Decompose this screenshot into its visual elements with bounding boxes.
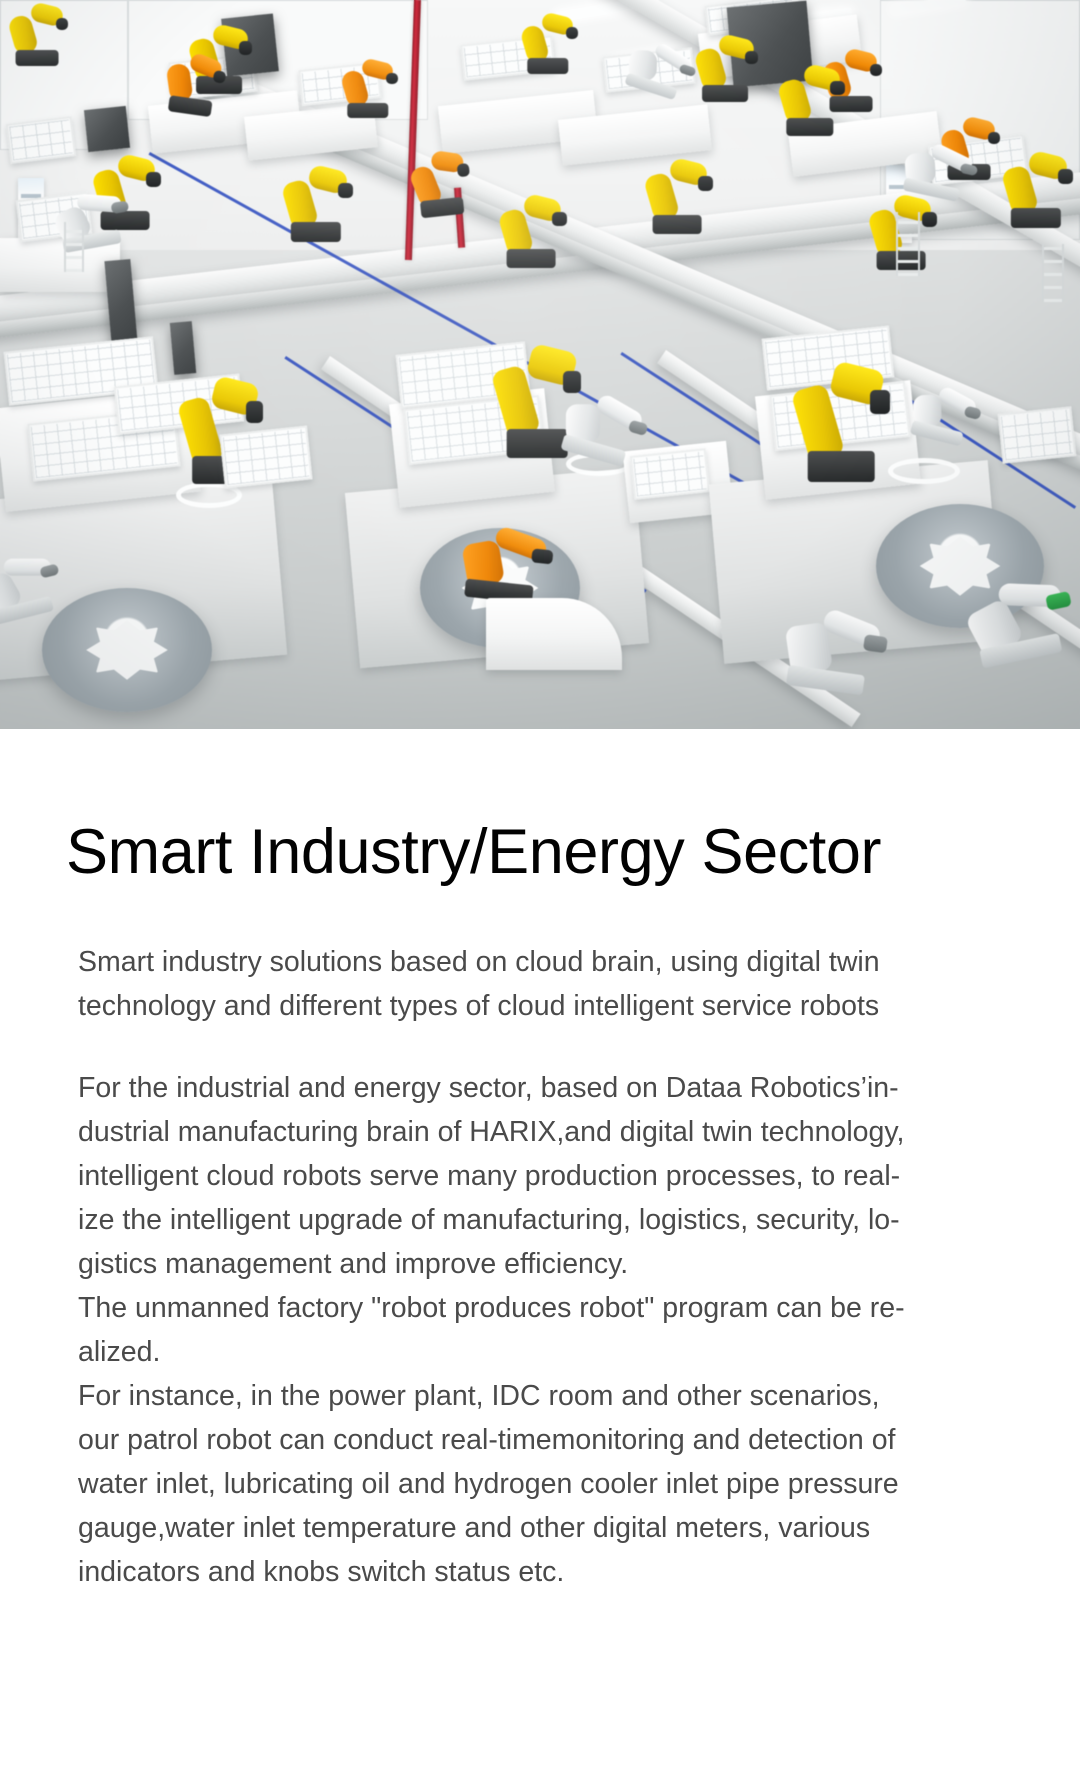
yellow-robot-arm xyxy=(644,160,710,234)
article-content: Smart Industry/Energy Sector Smart indus… xyxy=(0,821,1080,1594)
robot-pedestal-ring xyxy=(888,458,960,484)
body-line: dustrial manufacturing brain of HARIX,an… xyxy=(78,1110,1003,1154)
lead-paragraph: Smart industry solutions based on cloud … xyxy=(78,940,1003,1028)
body-line: intelligent cloud robots serve many prod… xyxy=(78,1154,1003,1198)
stacked-tray-rack xyxy=(6,116,76,164)
ladder xyxy=(64,222,84,272)
ladder xyxy=(896,212,920,276)
page-title: Smart Industry/Energy Sector xyxy=(66,821,1080,884)
yellow-robot-arm xyxy=(778,66,842,136)
dark-machine-cabinet xyxy=(170,321,196,375)
body-paragraph: For the industrial and energy sector, ba… xyxy=(78,1066,1003,1594)
ladder xyxy=(1042,244,1064,302)
yellow-robot-arm xyxy=(520,14,576,74)
yellow-robot-arm xyxy=(1002,152,1070,228)
yellow-robot-arm xyxy=(282,166,350,242)
stacked-tray-rack xyxy=(219,426,312,489)
body-line: gistics management and improve efficienc… xyxy=(78,1242,1003,1286)
body-line: indicators and knobs switch status etc. xyxy=(78,1550,1003,1594)
body-line: For instance, in the power plant, IDC ro… xyxy=(78,1374,1003,1418)
yellow-robot-arm xyxy=(498,196,564,268)
body-line: For the industrial and energy sector, ba… xyxy=(78,1066,1003,1110)
stacked-tray-rack xyxy=(630,448,710,500)
circular-turntable xyxy=(42,588,212,712)
orange-robot-arm xyxy=(340,60,396,118)
orange-robot-arm xyxy=(452,526,551,605)
yellow-robot-arm xyxy=(8,4,66,66)
body-line: our patrol robot can conduct real-timemo… xyxy=(78,1418,1003,1462)
body-line: gauge,water inlet temperature and other … xyxy=(78,1506,1003,1550)
silver-collaborative-robot-arm xyxy=(773,606,887,698)
hero-image xyxy=(0,0,1080,729)
yellow-robot-arm xyxy=(796,364,886,482)
orange-robot-arm xyxy=(160,51,226,118)
stacked-tray-rack xyxy=(998,406,1077,463)
body-line: alized. xyxy=(78,1330,1003,1374)
body-line: water inlet, lubricating oil and hydroge… xyxy=(78,1462,1003,1506)
body-line: ize the intelligent upgrade of manufactu… xyxy=(78,1198,1003,1242)
orange-robot-arm xyxy=(407,149,471,219)
yellow-robot-arm xyxy=(694,36,756,102)
body-line: The unmanned factory "robot produces rob… xyxy=(78,1286,1003,1330)
dark-machine-cabinet xyxy=(84,106,130,152)
